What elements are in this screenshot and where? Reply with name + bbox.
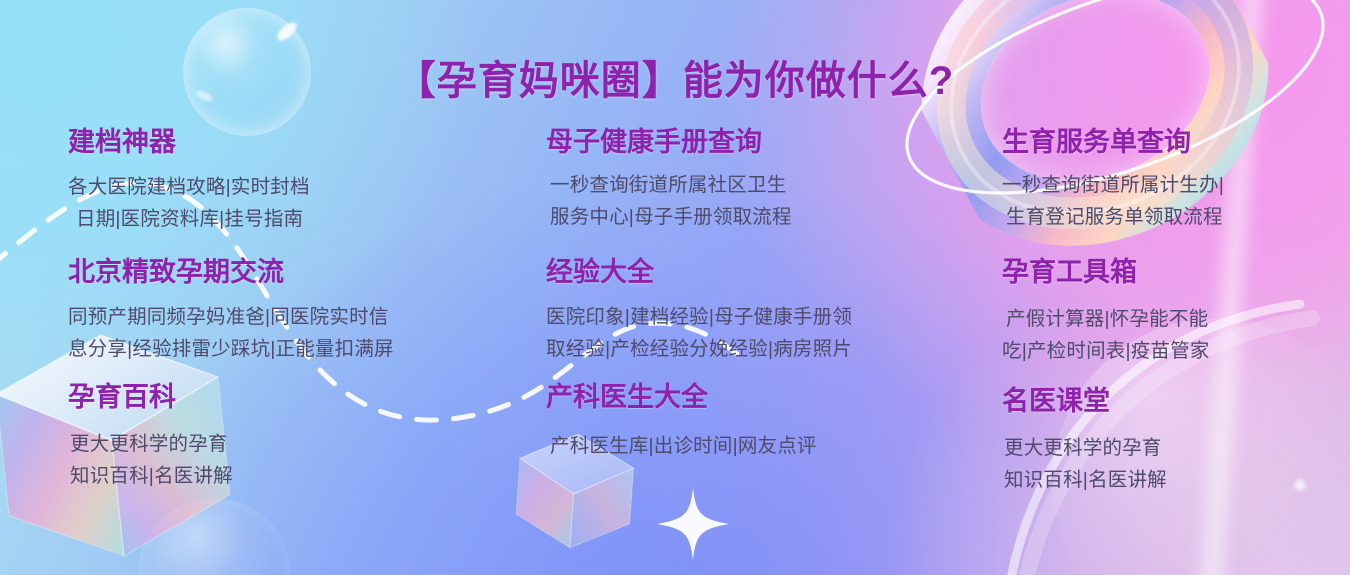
feature-title: 经验大全 <box>546 256 946 288</box>
feature-description: 一秒查询街道所属计生办| 生育登记服务单领取流程 <box>1002 170 1350 233</box>
feature-description-line: 一秒查询街道所属社区卫生 <box>546 170 946 202</box>
promo-banner: 【孕育妈咪圈】能为你做什么? 建档神器 各大医院建档攻略|实时封档 日期|医院资… <box>0 0 1350 575</box>
feature-description: 各大医院建档攻略|实时封档 日期|医院资料库|挂号指南 <box>68 172 468 235</box>
feature-block[interactable]: 孕育百科 更大更科学的孕育 知识百科|名医讲解 <box>68 381 468 493</box>
feature-description-line: 更大更科学的孕育 <box>70 429 468 461</box>
feature-description-line: 同预产期同频孕妈准爸|同医院实时信 <box>68 302 468 334</box>
feature-title: 生育服务单查询 <box>1002 126 1350 158</box>
feature-description-line: 知识百科|名医讲解 <box>70 461 468 493</box>
feature-description-line: 医院印象|建档经验|母子健康手册领 <box>546 302 946 334</box>
feature-block[interactable]: 名医课堂 更大更科学的孕育 知识百科|名医讲解 <box>1002 385 1350 497</box>
feature-title: 母子健康手册查询 <box>546 126 946 158</box>
feature-description-line: 生育登记服务单领取流程 <box>1002 202 1350 234</box>
feature-description: 产科医生库|出诊时间|网友点评 <box>546 431 946 463</box>
feature-block[interactable]: 母子健康手册查询 一秒查询街道所属社区卫生 服务中心|母子手册领取流程 <box>546 126 946 234</box>
feature-description-line: 产科医生库|出诊时间|网友点评 <box>550 431 946 463</box>
feature-description-line: 各大医院建档攻略|实时封档 <box>68 172 468 204</box>
feature-block[interactable]: 孕育工具箱 产假计算器|怀孕能不能 吃|产检时间表|疫苗管家 <box>1002 256 1350 368</box>
feature-description: 更大更科学的孕育 知识百科|名医讲解 <box>68 429 468 492</box>
feature-description: 一秒查询街道所属社区卫生 服务中心|母子手册领取流程 <box>546 170 946 233</box>
feature-description: 同预产期同频孕妈准爸|同医院实时信 息分享|经验排雷少踩坑|正能量扣满屏 <box>68 302 468 365</box>
feature-description: 更大更科学的孕育 知识百科|名医讲解 <box>1002 433 1350 496</box>
feature-title: 孕育百科 <box>68 381 468 413</box>
feature-title: 产科医生大全 <box>546 381 946 413</box>
page-title: 【孕育妈咪圈】能为你做什么? <box>0 48 1350 106</box>
feature-title: 建档神器 <box>68 126 468 158</box>
feature-title: 北京精致孕期交流 <box>68 256 468 288</box>
feature-description-line: 取经验|产检经验分娩经验|病房照片 <box>546 334 946 366</box>
feature-description-line: 产假计算器|怀孕能不能 <box>1002 304 1350 336</box>
feature-description-line: 知识百科|名医讲解 <box>1004 465 1350 497</box>
feature-column: 母子健康手册查询 一秒查询街道所属社区卫生 服务中心|母子手册领取流程 经验大全… <box>546 126 946 471</box>
feature-block[interactable]: 经验大全 医院印象|建档经验|母子健康手册领 取经验|产检经验分娩经验|病房照片 <box>546 256 946 366</box>
feature-column: 生育服务单查询 一秒查询街道所属计生办| 生育登记服务单领取流程 孕育工具箱 产… <box>1002 126 1350 505</box>
feature-block[interactable]: 建档神器 各大医院建档攻略|实时封档 日期|医院资料库|挂号指南 <box>68 126 468 236</box>
feature-description-line: 日期|医院资料库|挂号指南 <box>68 204 468 236</box>
feature-block[interactable]: 生育服务单查询 一秒查询街道所属计生办| 生育登记服务单领取流程 <box>1002 126 1350 234</box>
feature-description-line: 息分享|经验排雷少踩坑|正能量扣满屏 <box>68 334 468 366</box>
feature-description-line: 一秒查询街道所属计生办| <box>1002 170 1350 202</box>
feature-title: 名医课堂 <box>1002 385 1350 417</box>
feature-description: 产假计算器|怀孕能不能 吃|产检时间表|疫苗管家 <box>1002 304 1350 367</box>
feature-block[interactable]: 产科医生大全 产科医生库|出诊时间|网友点评 <box>546 381 946 463</box>
feature-description-line: 服务中心|母子手册领取流程 <box>546 202 946 234</box>
feature-title: 孕育工具箱 <box>1002 256 1350 288</box>
feature-block[interactable]: 北京精致孕期交流 同预产期同频孕妈准爸|同医院实时信 息分享|经验排雷少踩坑|正… <box>68 256 468 366</box>
feature-column: 建档神器 各大医院建档攻略|实时封档 日期|医院资料库|挂号指南 北京精致孕期交… <box>68 126 468 501</box>
feature-description-line: 吃|产检时间表|疫苗管家 <box>1002 336 1350 368</box>
feature-description-line: 更大更科学的孕育 <box>1004 433 1350 465</box>
feature-description: 医院印象|建档经验|母子健康手册领 取经验|产检经验分娩经验|病房照片 <box>546 302 946 365</box>
